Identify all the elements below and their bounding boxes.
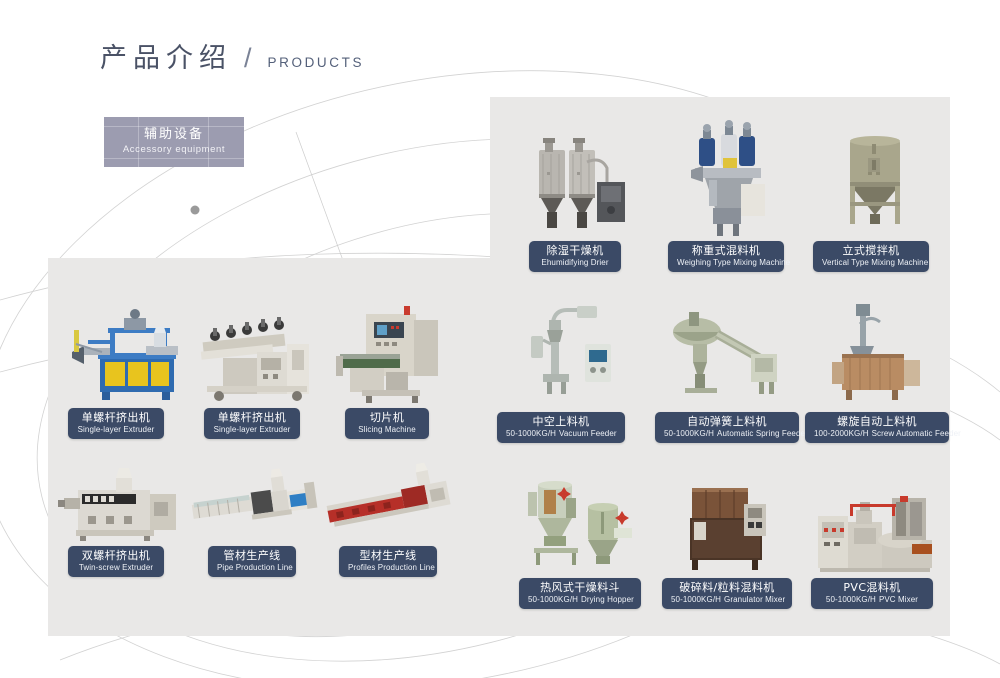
product-label-pvc-mixer[interactable]: PVC混料机 50-1000KG/HPVC Mixer	[811, 578, 933, 609]
label-en: Single-layer Extruder	[77, 425, 155, 435]
page-title-en: PRODUCTS	[268, 56, 365, 73]
label-cn: 破碎料/粒料混料机	[671, 581, 783, 595]
label-cn: 管材生产线	[217, 549, 287, 563]
category-tab-accessory-equipment[interactable]: 辅助设备 Accessory equipment	[104, 117, 244, 167]
page-title-cn: 产品介绍	[100, 45, 232, 72]
label-cn: PVC混料机	[820, 581, 924, 595]
label-cn: 单螺杆挤出机	[77, 411, 155, 425]
label-en: Weighing Type Mixing Machine	[677, 258, 775, 268]
label-capacity: 100-2000KG/H	[814, 429, 869, 438]
label-capacity: 50-1000KG/H	[826, 595, 876, 604]
product-photo-twin-screw-extruder[interactable]	[58, 460, 188, 542]
label-cn: 双螺杆挤出机	[77, 549, 155, 563]
label-en: Single-layer Extruder	[213, 425, 291, 435]
product-label-drying-hopper[interactable]: 热风式干燥料斗 50-1000KG/HDrying Hopper	[519, 578, 641, 609]
product-photo-pipe-production-line[interactable]	[190, 462, 322, 542]
product-photo-pvc-mixer[interactable]	[812, 482, 938, 578]
product-photo-dehumidifying-drier[interactable]	[525, 128, 633, 236]
label-capacity: 50-1000KG/H	[664, 429, 714, 438]
label-en: 50-1000KG/HGranulator Mixer	[671, 595, 783, 605]
product-label-vacuum-feeder[interactable]: 中空上料机 50-1000KG/HVacuum Feeder	[497, 412, 625, 443]
label-cn: 螺旋自动上料机	[814, 415, 940, 429]
label-cn: 单螺杆挤出机	[213, 411, 291, 425]
product-photo-slicing-machine[interactable]	[330, 300, 448, 408]
category-tab-label-cn: 辅助设备	[144, 127, 204, 143]
product-label-single-layer-extruder-2[interactable]: 单螺杆挤出机 Single-layer Extruder	[204, 408, 300, 439]
label-cn: 立式搅拌机	[822, 244, 920, 258]
label-cn: 除湿干燥机	[538, 244, 612, 258]
product-photo-screw-automatic-feeder[interactable]	[820, 298, 932, 402]
label-en-text: Granulator Mixer	[724, 595, 785, 604]
product-label-twin-screw-extruder[interactable]: 双螺杆挤出机 Twin-screw Extruder	[68, 546, 164, 577]
product-label-granulator-mixer[interactable]: 破碎料/粒料混料机 50-1000KG/HGranulator Mixer	[662, 578, 792, 609]
label-en: 50-1000KG/HAutomatic Spring Feeder	[664, 429, 790, 439]
product-photo-weighing-mixing-machine[interactable]	[683, 118, 777, 238]
product-label-single-layer-extruder-1[interactable]: 单螺杆挤出机 Single-layer Extruder	[68, 408, 164, 439]
label-en-text: PVC Mixer	[879, 595, 918, 604]
label-en: 50-1000KG/HVacuum Feeder	[506, 429, 616, 439]
product-photo-vertical-mixing-machine[interactable]	[832, 128, 918, 236]
product-label-profiles-production-line[interactable]: 型材生产线 Profiles Production Line	[339, 546, 437, 577]
label-cn: 中空上料机	[506, 415, 616, 429]
product-label-dehumidifying-drier[interactable]: 除湿干燥机 Ehumidifying Drier	[529, 241, 621, 272]
title-slash: /	[244, 45, 252, 72]
label-en: 100-2000KG/HScrew Automatic Feeder	[814, 429, 940, 439]
product-label-screw-automatic-feeder[interactable]: 螺旋自动上料机 100-2000KG/HScrew Automatic Feed…	[805, 412, 949, 443]
label-en-text: Screw Automatic Feeder	[872, 429, 961, 438]
label-en-text: Automatic Spring Feeder	[717, 429, 808, 438]
label-capacity: 50-1000KG/H	[506, 429, 556, 438]
label-cn: 热风式干燥料斗	[528, 581, 632, 595]
category-tab-label-en: Accessory equipment	[123, 143, 225, 157]
label-en: Slicing Machine	[354, 425, 420, 435]
product-photo-granulator-mixer[interactable]	[678, 478, 782, 576]
product-label-weighing-mixing-machine[interactable]: 称重式混料机 Weighing Type Mixing Machine	[668, 241, 784, 272]
product-photo-vacuum-feeder[interactable]	[523, 300, 633, 400]
label-cn: 切片机	[354, 411, 420, 425]
label-capacity: 50-1000KG/H	[671, 595, 721, 604]
page-title: 产品介绍 / PRODUCTS	[100, 45, 364, 72]
label-en-text: Drying Hopper	[581, 595, 634, 604]
label-cn: 称重式混料机	[677, 244, 775, 258]
label-en: Ehumidifying Drier	[538, 258, 612, 268]
product-label-vertical-mixing-machine[interactable]: 立式搅拌机 Vertical Type Mixing Machine	[813, 241, 929, 272]
product-photo-automatic-spring-feeder[interactable]	[665, 300, 783, 400]
label-en: Twin-screw Extruder	[77, 563, 155, 573]
label-en-text: Vacuum Feeder	[559, 429, 617, 438]
label-en: Pipe Production Line	[217, 563, 287, 573]
label-en: 50-1000KG/HPVC Mixer	[820, 595, 924, 605]
label-cn: 自动弹簧上料机	[664, 415, 790, 429]
product-photo-drying-hopper[interactable]	[522, 470, 640, 574]
label-cn: 型材生产线	[348, 549, 428, 563]
catalog-page: 产品介绍 / PRODUCTS 辅助设备 Accessory equipment	[0, 0, 1000, 678]
product-label-slicing-machine[interactable]: 切片机 Slicing Machine	[345, 408, 429, 439]
label-en: Profiles Production Line	[348, 563, 428, 573]
product-label-pipe-production-line[interactable]: 管材生产线 Pipe Production Line	[208, 546, 296, 577]
product-photo-profiles-production-line[interactable]	[325, 462, 453, 542]
label-en: Vertical Type Mixing Machine	[822, 258, 920, 268]
product-photo-single-layer-extruder-2[interactable]	[193, 300, 318, 408]
label-capacity: 50-1000KG/H	[528, 595, 578, 604]
product-photo-single-layer-extruder-1[interactable]	[62, 300, 202, 405]
product-label-automatic-spring-feeder[interactable]: 自动弹簧上料机 50-1000KG/HAutomatic Spring Feed…	[655, 412, 799, 443]
label-en: 50-1000KG/HDrying Hopper	[528, 595, 632, 605]
